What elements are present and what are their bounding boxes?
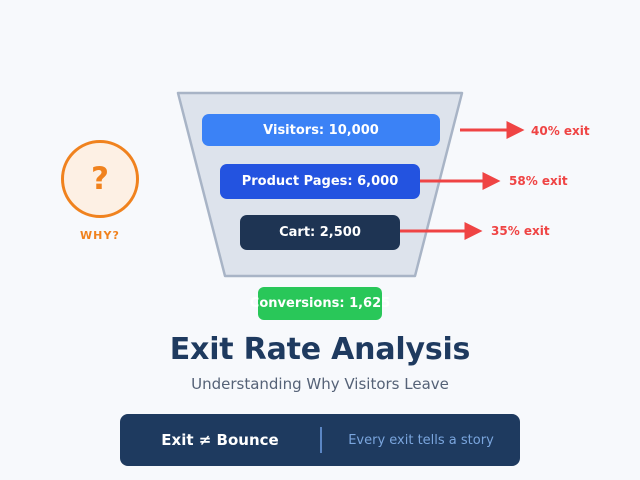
exit-arrows-layer bbox=[0, 0, 640, 480]
exit-rate-label-0: 40% exit bbox=[531, 124, 590, 138]
page-subtitle: Understanding Why Visitors Leave bbox=[0, 375, 640, 393]
infographic-canvas: ? WHY? Visitors: 10,000 Product Pages: 6… bbox=[0, 0, 640, 480]
exit-rate-label-2: 35% exit bbox=[491, 224, 550, 238]
exit-rate-label-1: 58% exit bbox=[509, 174, 568, 188]
page-title: Exit Rate Analysis bbox=[0, 332, 640, 367]
bottom-banner[interactable]: Exit ≠ Bounce Every exit tells a story bbox=[120, 414, 520, 466]
banner-primary-text: Exit ≠ Bounce bbox=[120, 431, 320, 449]
banner-secondary-text: Every exit tells a story bbox=[322, 433, 520, 448]
